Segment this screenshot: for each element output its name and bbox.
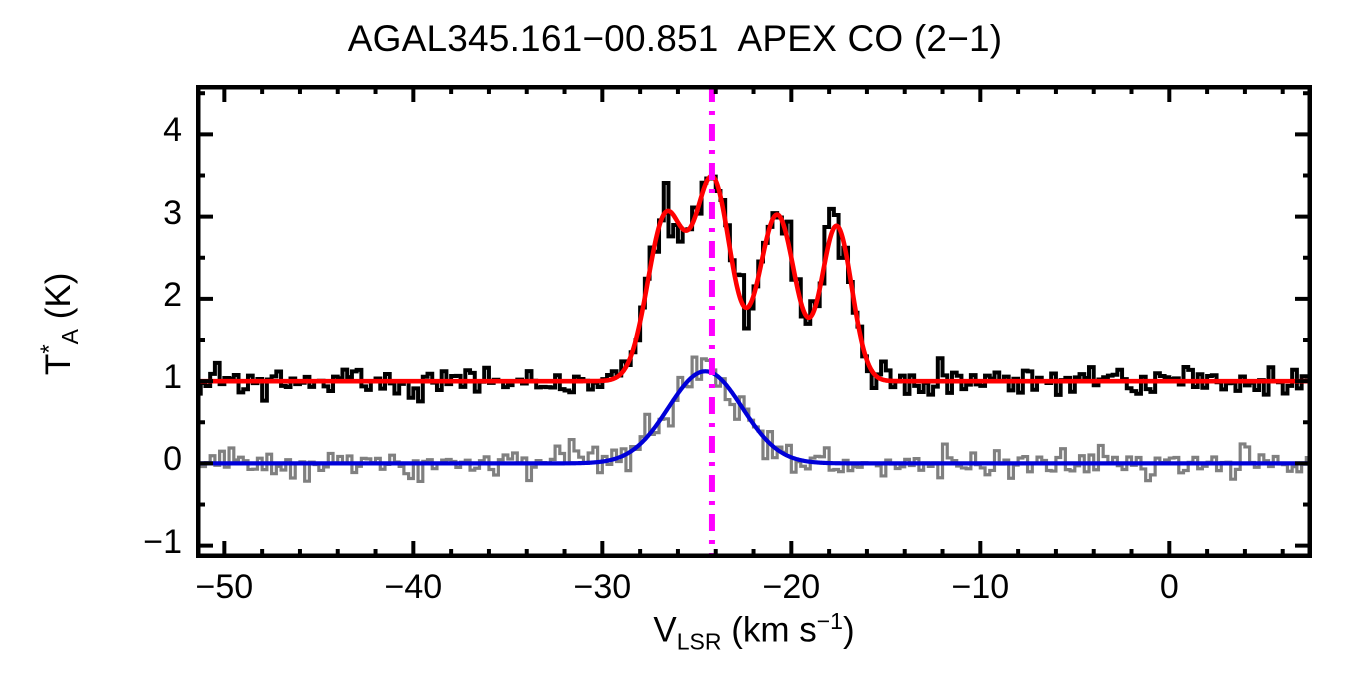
x-axis-label-unit-open: (km s — [721, 611, 816, 650]
y-axis-label-sub: A — [57, 329, 83, 344]
x-axis-label-unit-exponent: −1 — [817, 608, 843, 634]
plot-frame — [196, 85, 1312, 558]
y-tick-label: 4 — [62, 111, 182, 150]
x-tick-label: −50 — [124, 568, 324, 607]
figure-canvas: AGAL345.161−00.851 APEX CO (2−1) T*A (K)… — [0, 0, 1350, 675]
x-axis-label-unit-close: ) — [843, 611, 855, 650]
y-tick-label: −1 — [62, 523, 182, 562]
y-tick-label: 3 — [62, 194, 182, 233]
x-tick-label: −40 — [313, 568, 513, 607]
x-axis-label-main: V — [653, 611, 676, 650]
x-tick-label: −10 — [880, 568, 1080, 607]
x-axis-label-sub: LSR — [677, 629, 722, 655]
x-tick-label: −20 — [691, 568, 891, 607]
y-axis-label-sup: * — [36, 344, 63, 353]
axis-frame-box — [198, 87, 1310, 556]
x-tick-label: 0 — [1069, 568, 1269, 607]
x-axis-label: VLSR (km s−1) — [196, 608, 1312, 656]
y-tick-label: 2 — [62, 276, 182, 315]
gaussian-fit-primary — [196, 176, 1312, 381]
x-tick-label: −30 — [502, 568, 702, 607]
y-tick-label: 1 — [62, 358, 182, 397]
page-title: AGAL345.161−00.851 APEX CO (2−1) — [0, 18, 1350, 60]
y-tick-label: 0 — [62, 440, 182, 479]
plot-area — [196, 85, 1312, 558]
